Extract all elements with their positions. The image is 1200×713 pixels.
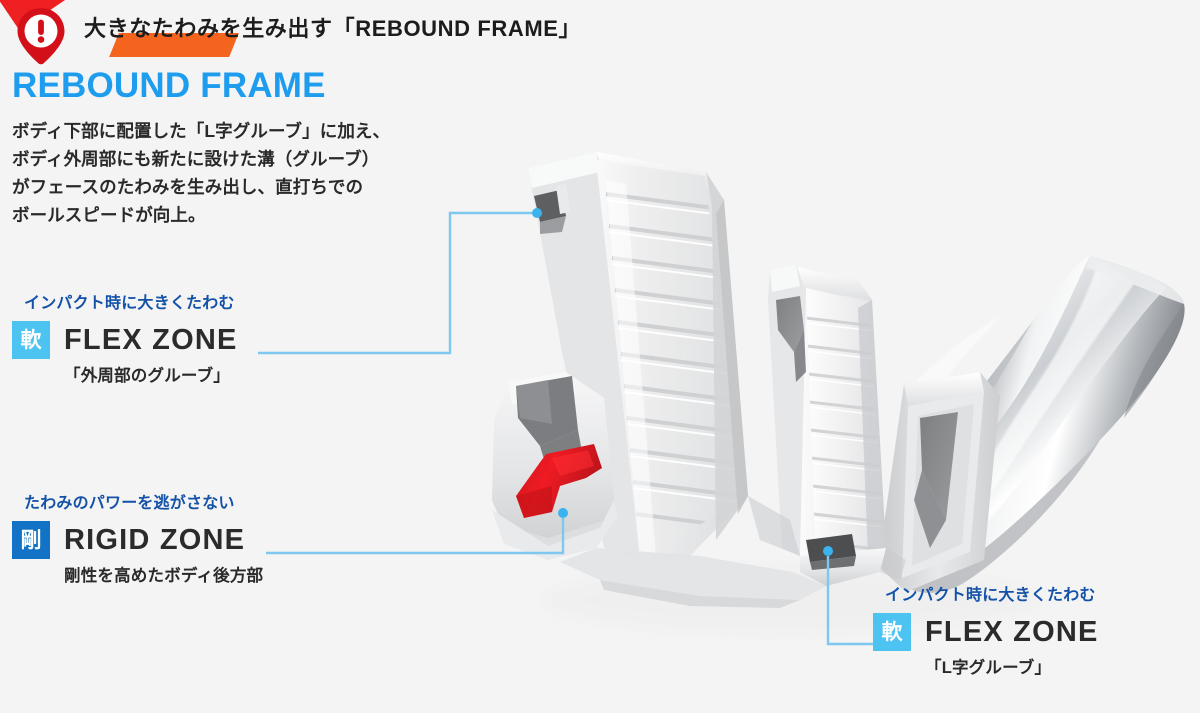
callout-flex-zone-bottom-subtitle: インパクト時に大きくたわむ xyxy=(885,588,1099,604)
badge-rigid-icon: 剛 xyxy=(12,521,50,559)
callout-rigid-zone: たわみのパワーを逃がさない 剛 RIGID ZONE 剛性を高めたボディ後方部 xyxy=(12,496,263,585)
description-line-3: がフェースのたわみを生み出し、直打ちでの xyxy=(12,173,390,201)
callout-rigid-zone-row: 剛 RIGID ZONE xyxy=(12,521,263,559)
callout-flex-zone-bottom-name: FLEX ZONE xyxy=(925,618,1099,647)
callout-flex-zone-top-note: 「外周部のグルーブ」 xyxy=(64,368,238,385)
description-line-4: ボールスピードが向上。 xyxy=(12,201,390,229)
callout-flex-zone-bottom: インパクト時に大きくたわむ 軟 FLEX ZONE 「L字グルーブ」 xyxy=(873,588,1099,677)
badge-soft-icon-bottom: 軟 xyxy=(873,613,911,651)
page-title: REBOUND FRAME xyxy=(12,66,326,106)
exclamation-pin-icon xyxy=(10,5,72,67)
callout-flex-zone-bottom-row: 軟 FLEX ZONE xyxy=(873,613,1099,651)
callout-rigid-zone-subtitle: たわみのパワーを逃がさない xyxy=(24,496,263,512)
callout-flex-zone-top-row: 軟 FLEX ZONE xyxy=(12,321,238,359)
callout-rigid-zone-note: 剛性を高めたボディ後方部 xyxy=(64,568,263,585)
description: ボディ下部に配置した「L字グルーブ」に加え、 ボディ外周部にも新たに設けた溝（グ… xyxy=(12,117,390,229)
callout-flex-zone-top: インパクト時に大きくたわむ 軟 FLEX ZONE 「外周部のグルーブ」 xyxy=(12,296,238,385)
badge-soft-icon: 軟 xyxy=(12,321,50,359)
headline: 大きなたわみを生み出す「REBOUND FRAME」 xyxy=(84,17,581,41)
headline-text: 大きなたわみを生み出す「REBOUND FRAME」 xyxy=(84,16,581,41)
callout-rigid-zone-name: RIGID ZONE xyxy=(64,526,245,555)
callout-flex-zone-top-name: FLEX ZONE xyxy=(64,326,238,355)
callout-flex-zone-top-subtitle: インパクト時に大きくたわむ xyxy=(24,296,238,312)
description-line-2: ボディ外周部にも新たに設けた溝（グルーブ） xyxy=(12,145,390,173)
callout-flex-zone-bottom-note: 「L字グルーブ」 xyxy=(925,660,1099,677)
rebound-frame-infographic: 大きなたわみを生み出す「REBOUND FRAME」 REBOUND FRAME… xyxy=(0,0,1200,713)
description-line-1: ボディ下部に配置した「L字グルーブ」に加え、 xyxy=(12,117,390,145)
